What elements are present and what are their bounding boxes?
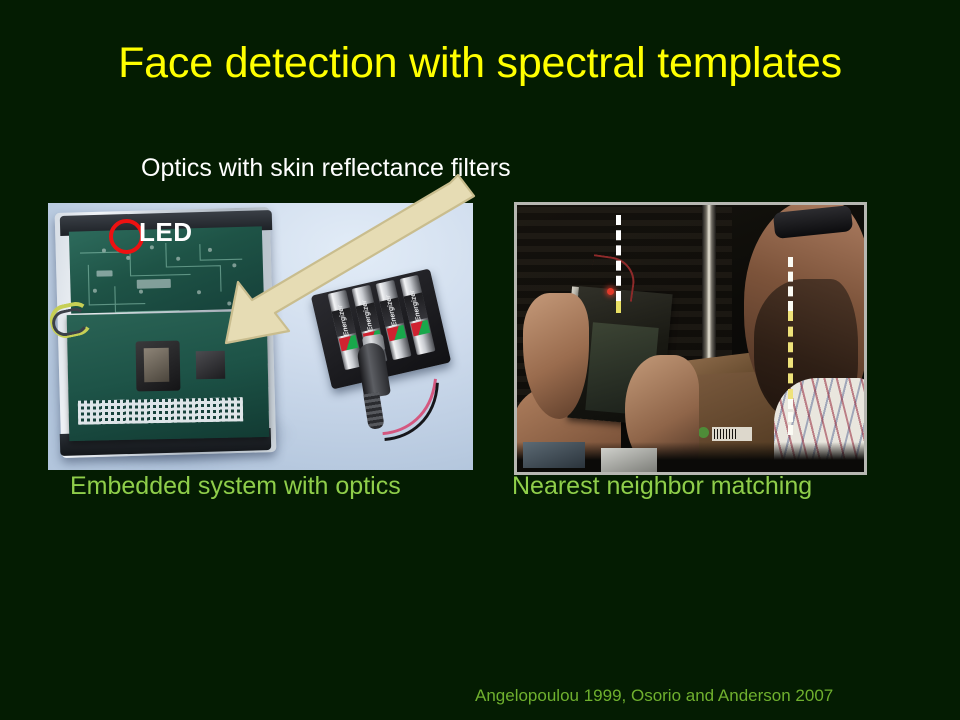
device-red-led [607, 288, 614, 295]
dashed-guide-line-device [616, 215, 621, 301]
green-sticker [698, 427, 709, 438]
figure-caption-right: Nearest neighbor matching [512, 471, 812, 501]
slide: Face detection with spectral templates O… [0, 0, 960, 720]
barcode [714, 429, 738, 439]
processor-chip [196, 351, 225, 380]
dashed-guide-line-face-lower [788, 399, 793, 435]
figure-caption-left: Embedded system with optics [70, 471, 401, 501]
citation-text: Angelopoulou 1999, Osorio and Anderson 2… [475, 685, 833, 706]
pin-header-array [78, 397, 243, 424]
led-label: LED [139, 217, 193, 247]
dashed-guide-line-device-lower [616, 301, 621, 313]
dashed-guide-line-face-middle [788, 311, 793, 399]
figure-embedded-system-photo: Energizer Energizer Energizer Energizer … [48, 203, 473, 470]
optics-callout-label: Optics with skin reflectance filters [141, 153, 511, 183]
power-cable [366, 373, 456, 461]
optics-lens [144, 348, 170, 382]
dashed-guide-line-face-upper [788, 257, 793, 311]
foreground-object-right [601, 448, 657, 472]
foreground-object-left [523, 442, 585, 468]
page-title: Face detection with spectral templates [0, 38, 960, 88]
figure-nearest-neighbor-photo [514, 202, 867, 475]
